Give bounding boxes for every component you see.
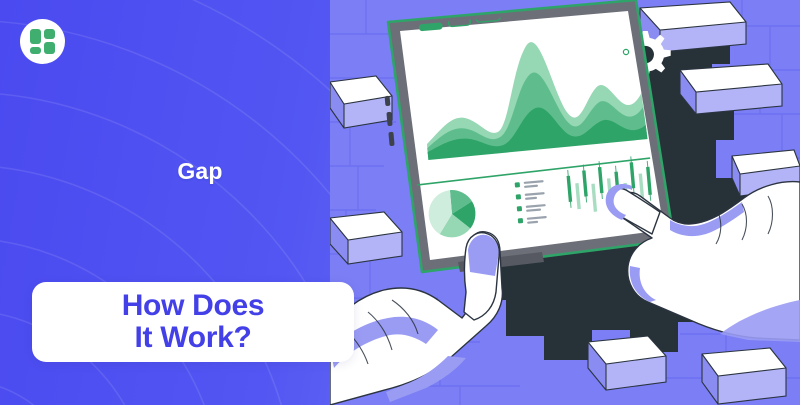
brand-logo[interactable] — [20, 19, 65, 64]
brick — [680, 64, 782, 114]
eyebrow-text: Gap — [0, 158, 400, 185]
banner-root: Gap How Does It Work? — [0, 0, 800, 405]
brick — [330, 212, 402, 264]
grid-squares-logo-icon — [29, 28, 56, 55]
headline-card[interactable]: How Does It Work? — [32, 282, 354, 362]
brick — [702, 348, 786, 404]
brick — [588, 336, 666, 390]
page-title: How Does It Work? — [122, 290, 265, 355]
illustration-hands-tablet-wall — [330, 0, 800, 405]
brick — [330, 76, 392, 128]
